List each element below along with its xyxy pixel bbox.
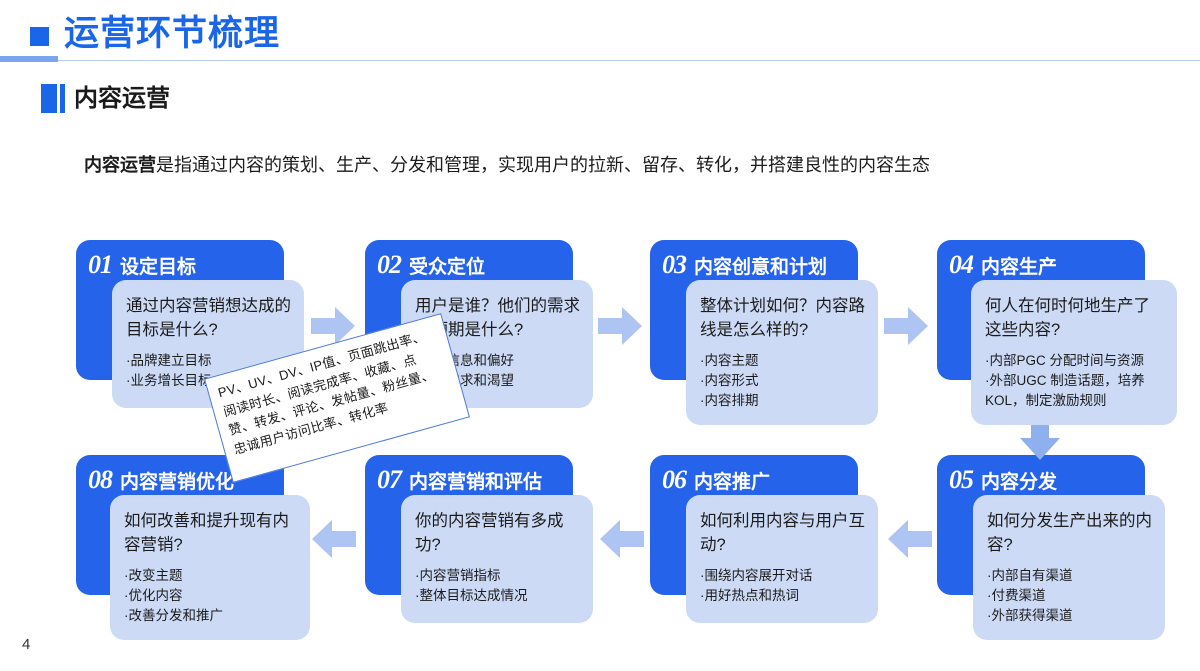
flow-card-title: 受众定位 — [409, 256, 485, 280]
arrow-06-to-07-icon — [600, 518, 644, 565]
arrow-03-to-04-icon — [884, 305, 928, 352]
flow-card-bullet-list: ·围绕内容展开对话·用好热点和热词 — [700, 566, 866, 606]
page-title: 运营环节梳理 — [64, 12, 280, 56]
flow-card-number: 03 — [662, 250, 686, 280]
flow-card-headtext-04: 04内容生产 — [949, 250, 1057, 280]
flow-card-bullet: ·整体目标达成情况 — [415, 586, 581, 606]
flow-card-body-06: 如何利用内容与用户互动?·围绕内容展开对话·用好热点和热词 — [686, 495, 878, 623]
flow-card-headtext-01: 01设定目标 — [88, 250, 196, 280]
flow-card-bullet: ·内容主题 — [700, 351, 866, 371]
flow-card-headtext-06: 06内容推广 — [662, 465, 770, 495]
flow-card-bullet: ·优化内容 — [124, 586, 298, 606]
flow-card-question: 整体计划如何？内容路线是怎么样的? — [700, 294, 866, 342]
flow-card-number: 07 — [377, 465, 401, 495]
flow-card-bullet: ·内容形式 — [700, 371, 866, 391]
flow-card-title: 内容营销优化 — [120, 471, 234, 495]
header-divider — [0, 60, 1200, 61]
flow-card-bullet: ·围绕内容展开对话 — [700, 566, 866, 586]
lead-bold: 内容运营 — [84, 155, 156, 175]
flow-card-number: 04 — [949, 250, 973, 280]
arrow-05-to-06-icon — [888, 518, 932, 565]
header-divider-accent — [0, 56, 58, 62]
flow-card-bullet: ·内部自有渠道 — [987, 566, 1153, 586]
flow-card-bullet: ·用好热点和热词 — [700, 586, 866, 606]
flow-card-bullet: ·付费渠道 — [987, 586, 1153, 606]
flow-card-bullet-list: ·内容营销指标·整体目标达成情况 — [415, 566, 581, 606]
arrow-07-to-08-icon — [312, 518, 356, 565]
flow-card-body-05: 如何分发生产出来的内容?·内部自有渠道·付费渠道·外部获得渠道 — [973, 495, 1165, 640]
subheading-title: 内容运营 — [74, 83, 170, 114]
flow-card-bullet-list: ·内部自有渠道·付费渠道·外部获得渠道 — [987, 566, 1153, 626]
flow-card-title: 内容分发 — [981, 471, 1057, 495]
flow-card-question: 你的内容营销有多成功? — [415, 509, 581, 557]
flow-card-body-03: 整体计划如何？内容路线是怎么样的?·内容主题·内容形式·内容排期 — [686, 280, 878, 425]
flow-card-bullet: ·改变主题 — [124, 566, 298, 586]
flow-card-bullet: ·改善分发和推广 — [124, 606, 298, 626]
flow-card-bullet-list: ·内部PGC 分配时间与资源·外部UGC 制造话题，培养KOL，制定激励规则 — [985, 351, 1165, 411]
lead-paragraph: 内容运营是指通过内容的策划、生产、分发和管理，实现用户的拉新、留存、转化，并搭建… — [84, 152, 930, 178]
flow-card-number: 01 — [88, 250, 112, 280]
flow-card-question: 如何利用内容与用户互动? — [700, 509, 866, 557]
subheading-bar-icon — [41, 84, 57, 113]
flow-card-question: 通过内容营销想达成的目标是什么? — [126, 294, 292, 342]
page-number: 4 — [22, 636, 30, 653]
flow-card-title: 内容生产 — [981, 256, 1057, 280]
slide-root: 运营环节梳理 内容运营 内容运营是指通过内容的策划、生产、分发和管理，实现用户的… — [0, 0, 1200, 671]
flow-card-number: 06 — [662, 465, 686, 495]
flow-card-headtext-03: 03内容创意和计划 — [662, 250, 827, 280]
flow-card-bullet: ·外部获得渠道 — [987, 606, 1153, 626]
flow-card-number: 02 — [377, 250, 401, 280]
flow-card-bullet: ·内部PGC 分配时间与资源 — [985, 351, 1165, 371]
flow-card-title: 内容推广 — [694, 471, 770, 495]
square-bullet-icon — [30, 27, 49, 46]
flow-card-body-08: 如何改善和提升现有内容营销?·改变主题·优化内容·改善分发和推广 — [110, 495, 310, 640]
flow-card-title: 内容营销和评估 — [409, 471, 542, 495]
subheading-bar-small-icon — [60, 84, 65, 113]
flow-card-body-07: 你的内容营销有多成功?·内容营销指标·整体目标达成情况 — [401, 495, 593, 623]
flow-card-headtext-05: 05内容分发 — [949, 465, 1057, 495]
flow-card-bullet: ·内容排期 — [700, 391, 866, 411]
flow-card-title: 设定目标 — [120, 256, 196, 280]
flow-card-bullet: ·外部UGC 制造话题，培养KOL，制定激励规则 — [985, 371, 1165, 411]
flow-card-bullet-list: ·内容主题·内容形式·内容排期 — [700, 351, 866, 411]
flow-card-bullet: ·内容营销指标 — [415, 566, 581, 586]
flow-card-title: 内容创意和计划 — [694, 256, 827, 280]
flow-card-number: 08 — [88, 465, 112, 495]
flow-card-question: 何人在何时何地生产了这些内容? — [985, 294, 1165, 342]
flow-card-number: 05 — [949, 465, 973, 495]
flow-card-headtext-08: 08内容营销优化 — [88, 465, 234, 495]
arrow-02-to-03-icon — [598, 305, 642, 352]
flow-card-headtext-07: 07内容营销和评估 — [377, 465, 542, 495]
flow-card-question: 如何改善和提升现有内容营销? — [124, 509, 298, 557]
flow-card-bullet-list: ·改变主题·优化内容·改善分发和推广 — [124, 566, 298, 626]
flow-card-question: 如何分发生产出来的内容? — [987, 509, 1153, 557]
flow-card-headtext-02: 02受众定位 — [377, 250, 485, 280]
lead-rest: 是指通过内容的策划、生产、分发和管理，实现用户的拉新、留存、转化，并搭建良性的内… — [156, 155, 930, 175]
flow-card-body-04: 何人在何时何地生产了这些内容?·内部PGC 分配时间与资源·外部UGC 制造话题… — [971, 280, 1177, 425]
